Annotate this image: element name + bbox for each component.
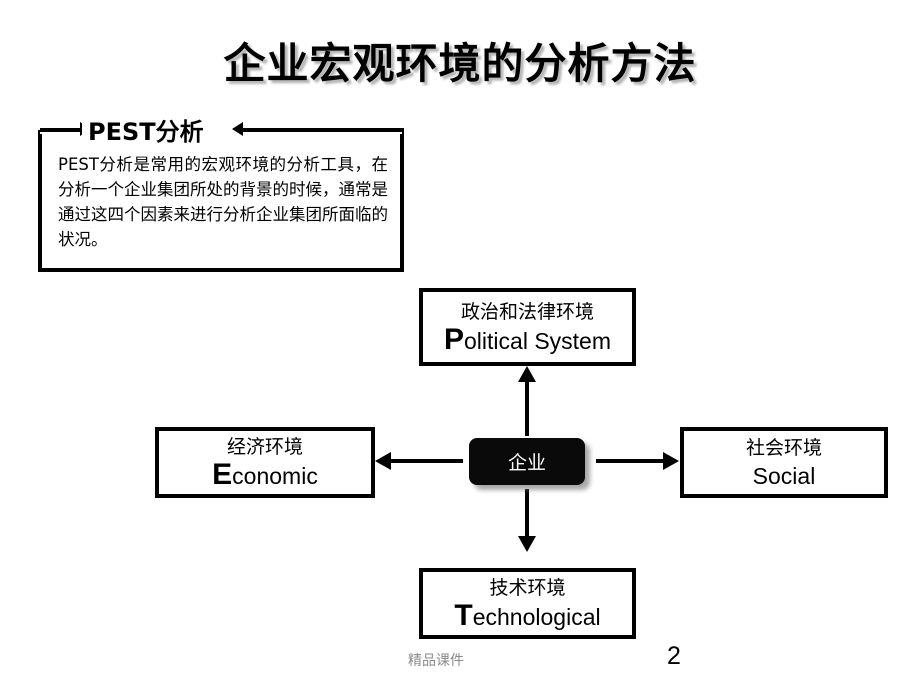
arrow-right-icon (663, 452, 679, 470)
factor-label-en-political: Political System (444, 325, 611, 356)
factor-label-cn-social: 社会环境 (746, 435, 822, 461)
factor-box-social[interactable]: 社会环境 Social (680, 427, 888, 498)
center-node-enterprise[interactable]: 企业 (469, 438, 585, 485)
factor-initial-political: P (444, 323, 464, 356)
connector-line-to-technological (525, 489, 529, 537)
factor-rest-social: ocial (768, 463, 815, 489)
pest-callout-body: PEST分析是常用的宏观环境的分析工具，在分析一个企业集团所处的背景的时候，通常… (58, 152, 388, 252)
pest-leader-arrow-right-icon (232, 122, 243, 136)
factor-label-en-economic: Economic (212, 460, 318, 491)
factor-label-cn-economic: 经济环境 (227, 434, 303, 460)
factor-rest-economic: conomic (232, 463, 318, 489)
factor-box-political[interactable]: 政治和法律环境 Political System (419, 288, 636, 366)
arrow-up-icon (518, 366, 536, 382)
pest-leader-line-right (238, 128, 404, 132)
page-number: 2 (667, 642, 681, 671)
arrow-left-icon (375, 452, 391, 470)
connector-line-to-economic (391, 459, 463, 463)
factor-initial-technological: T (454, 599, 472, 632)
footer-watermark: 精品课件 (408, 650, 464, 670)
factor-box-technological[interactable]: 技术环境 Technological (419, 568, 636, 639)
center-node-label: 企业 (508, 448, 546, 475)
factor-box-economic[interactable]: 经济环境 Economic (155, 427, 375, 498)
arrow-down-icon (518, 536, 536, 552)
factor-initial-economic: E (212, 458, 232, 491)
page-title: 企业宏观环境的分析方法 (0, 30, 920, 91)
factor-rest-technological: echnological (473, 604, 601, 630)
factor-label-en-technological: Technological (454, 601, 600, 632)
connector-line-to-social (596, 459, 664, 463)
factor-label-cn-political: 政治和法律环境 (461, 299, 594, 325)
pest-callout-label: PEST分析 (82, 112, 210, 147)
pest-callout-box: PEST分析是常用的宏观环境的分析工具，在分析一个企业集团所处的背景的时候，通常… (38, 130, 404, 272)
connector-line-to-political (525, 382, 529, 436)
factor-initial-social: S (753, 463, 768, 489)
factor-label-en-social: Social (753, 461, 816, 491)
slide-canvas: 企业宏观环境的分析方法 PEST分析是常用的宏观环境的分析工具，在分析一个企业集… (0, 0, 920, 690)
factor-label-cn-technological: 技术环境 (489, 575, 565, 601)
factor-rest-political: olitical System (464, 328, 611, 354)
